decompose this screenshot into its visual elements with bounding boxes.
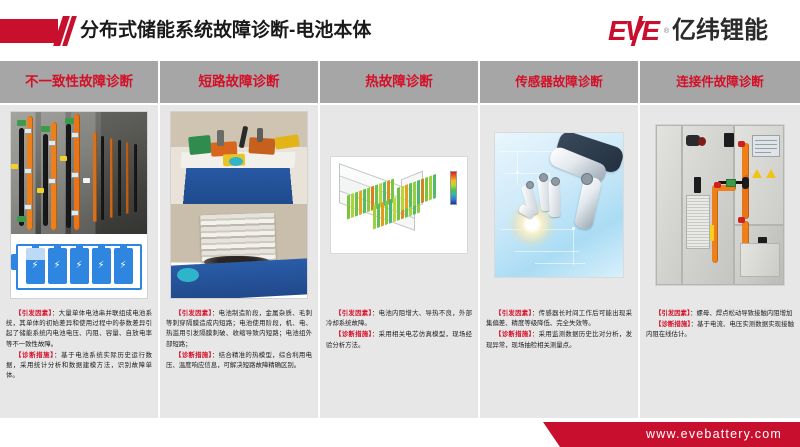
slide-root: 分布式储能系统故障诊断-电池本体 EVE ® 亿纬锂能 不一致性故障诊断 — [0, 0, 800, 447]
measure-tag-2: 【诊断措施】 — [175, 352, 212, 359]
short-circuit-photo — [171, 112, 307, 298]
column-title-3: 热故障诊断 — [365, 74, 433, 90]
short-circuit-photo-bottom — [171, 204, 307, 298]
column-media-5 — [640, 105, 800, 305]
column-media-2 — [160, 105, 318, 305]
thermal-simulation — [331, 157, 467, 253]
page-title: 分布式储能系统故障诊断-电池本体 — [80, 18, 371, 44]
column-thermal-fault[interactable]: 热故障诊断 — [320, 61, 480, 418]
diagnosis-columns: 不一致性故障诊断 — [0, 61, 800, 418]
column-text-2: 【引发因素】：电池制造阶段，金属杂质、毛刺等刺穿隔膜造成内短路；电池使用阶段，机… — [160, 305, 318, 418]
column-header-2: 短路故障诊断 — [160, 61, 318, 105]
cause-tag-2: 【引发因素】 — [175, 310, 212, 317]
slide-header: 分布式储能系统故障诊断-电池本体 EVE ® 亿纬锂能 — [0, 0, 800, 61]
column-text-3: 【引发因素】：电池内阻增大、导热不良，外部冷却系统故障。 【诊断措施】：采用相关… — [320, 305, 478, 418]
slide-footer: www.evebattery.com — [0, 418, 800, 447]
battery-icon-2: ⚡ — [48, 248, 67, 284]
cause-paragraph-4: 【引发因素】：传感器长时间工作后可能出现采集偏差、精度等级降低、完全失效等。 — [486, 309, 632, 329]
column-header-3: 热故障诊断 — [320, 61, 478, 105]
measure-paragraph-2: 【诊断措施】：结合精准的热模型，综合利用电压、温度响应信息，可解决短路故障精确区… — [166, 351, 312, 371]
measure-paragraph-1: 【诊断措施】：基于电池系统实际历史运行数据，采用统计分析和数据建模方法，识别故障… — [6, 351, 152, 382]
eve-logo-wordmark: EVE ® — [608, 16, 658, 46]
cause-paragraph-1: 【引发因素】：大量单体电池串并联组成电池系统，其单体的初始差异和使用过程中的参数… — [6, 309, 152, 350]
measure-tag-4: 【诊断措施】 — [495, 331, 532, 338]
cause-tag-4: 【引发因素】 — [495, 310, 532, 317]
column-text-1: 【引发因素】：大量单体电池串并联组成电池系统，其单体的初始差异和使用过程中的参数… — [0, 305, 158, 418]
battery-icon-5: ⚡ — [114, 248, 133, 284]
cause-tag-1: 【引发因素】 — [15, 310, 52, 317]
column-header-5: 连接件故障诊断 — [640, 61, 800, 105]
measure-tag-5: 【诊断措施】 — [655, 321, 691, 328]
battery-terminal-icon — [11, 254, 18, 270]
measure-paragraph-4: 【诊断措施】：采用监测数据历史比对分析，发现异常，现场抽检相关测量点。 — [486, 330, 632, 350]
connector-cabinet-photo — [656, 125, 784, 285]
column-media-3 — [320, 105, 478, 305]
thermal-simulation-box — [339, 171, 443, 233]
footer-divider — [0, 418, 800, 420]
column-title-1: 不一致性故障诊断 — [25, 74, 133, 90]
battery-rack-photo: ⚡ ⚡ ⚡ ⚡ ⚡ — [11, 112, 147, 298]
cause-tag-5: 【引发因素】 — [655, 310, 690, 317]
cause-paragraph-2: 【引发因素】：电池制造阶段，金属杂质、毛刺等刺穿隔膜造成内短路；电池使用阶段，机… — [166, 309, 312, 350]
registered-trademark-icon: ® — [664, 17, 667, 47]
column-text-4: 【引发因素】：传感器长时间工作后可能出现采集偏差、精度等级降低、完全失效等。 【… — [480, 305, 638, 418]
column-title-5: 连接件故障诊断 — [676, 74, 764, 90]
column-title-2: 短路故障诊断 — [199, 74, 280, 90]
eve-logo: EVE ® 亿纬锂能 — [608, 16, 768, 46]
cause-paragraph-5: 【引发因素】：螺母、焊点松动导致接触内阻增加 — [646, 309, 794, 319]
battery-icon-1: ⚡ — [26, 248, 45, 284]
column-title-4: 传感器故障诊断 — [515, 74, 603, 90]
measure-tag-3: 【诊断措施】 — [335, 331, 372, 338]
thermal-colorbar-icon — [450, 171, 457, 205]
measure-paragraph-5: 【诊断措施】：基于电流、电压实测数据实现接触内阻在线估计。 — [646, 320, 794, 340]
battery-icon-4: ⚡ — [92, 248, 111, 284]
footer-website-url[interactable]: www.evebattery.com — [646, 422, 782, 447]
column-sensor-fault[interactable]: 传感器故障诊断 — [480, 61, 640, 418]
column-header-1: 不一致性故障诊断 — [0, 61, 158, 105]
column-connector-fault[interactable]: 连接件故障诊断 — [640, 61, 800, 418]
short-circuit-photo-top — [171, 112, 307, 204]
column-media-4 — [480, 105, 638, 305]
column-media-1: ⚡ ⚡ ⚡ ⚡ ⚡ — [0, 105, 158, 305]
cause-text-5: ：螺母、焊点松动导致接触内阻增加 — [690, 310, 792, 317]
column-short-circuit-fault[interactable]: 短路故障诊断 — [160, 61, 320, 418]
column-inconsistency-fault[interactable]: 不一致性故障诊断 — [0, 61, 160, 418]
measure-paragraph-3: 【诊断措施】：采用相关电芯仿真模型，现场经验分析方法。 — [326, 330, 472, 350]
measure-tag-1: 【诊断措施】 — [15, 352, 54, 359]
battery-cells-icon: ⚡ ⚡ ⚡ ⚡ ⚡ — [11, 234, 147, 298]
robot-hand-image — [495, 133, 623, 277]
cause-paragraph-3: 【引发因素】：电池内阻增大、导热不良，外部冷却系统故障。 — [326, 309, 472, 329]
column-header-4: 传感器故障诊断 — [480, 61, 638, 105]
battery-rack-photo-image — [11, 112, 147, 234]
cause-tag-3: 【引发因素】 — [335, 310, 372, 317]
column-text-5: 【引发因素】：螺母、焊点松动导致接触内阻增加 【诊断措施】：基于电流、电压实测数… — [640, 305, 800, 418]
thermal-colorbar-legend — [450, 171, 461, 205]
header-red-bar-decoration — [0, 19, 58, 43]
eve-logo-chinese-name: 亿纬锂能 — [672, 16, 768, 46]
battery-icon-3: ⚡ — [70, 248, 89, 284]
